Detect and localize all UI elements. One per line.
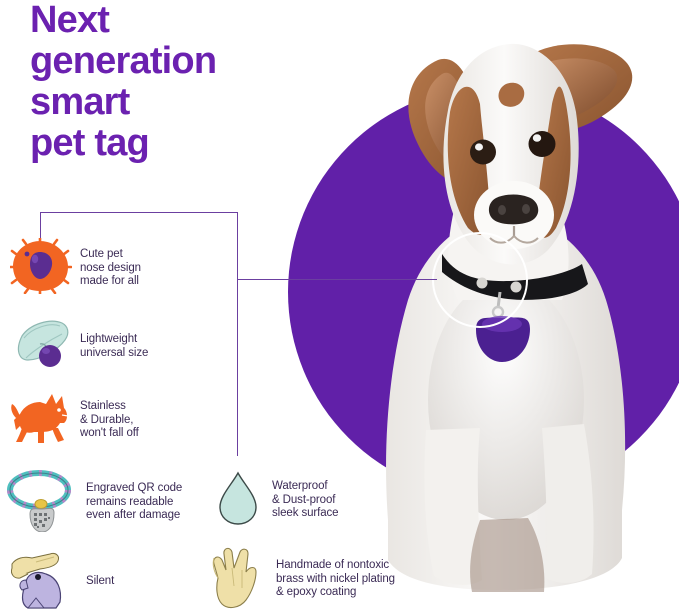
page-title: Next generation smart pet tag bbox=[30, 0, 310, 164]
feature-silent: Silent bbox=[6, 546, 114, 616]
feature-label: Lightweight universal size bbox=[80, 333, 148, 360]
water-drop-icon bbox=[214, 470, 262, 531]
feature-label: Stainless & Durable, won't fall off bbox=[80, 400, 139, 441]
connector-line-vertical bbox=[237, 212, 238, 456]
feature-waterproof: Waterproof & Dust-proof sleek surface bbox=[214, 470, 338, 531]
qr-tag-collar-icon bbox=[6, 468, 76, 537]
tag-highlight-ring bbox=[432, 232, 528, 328]
connector-line-top bbox=[40, 212, 238, 213]
feature-handmade: Handmade of nontoxic brass with nickel p… bbox=[210, 542, 395, 616]
hand-petting-dog-icon bbox=[6, 546, 76, 616]
connector-line-to-tag bbox=[237, 279, 437, 280]
collar-with-tag-icon bbox=[10, 316, 72, 377]
feature-durable: Stainless & Durable, won't fall off bbox=[10, 390, 139, 451]
feature-label: Cute pet nose design made for all bbox=[80, 248, 141, 289]
feature-label: Handmade of nontoxic brass with nickel p… bbox=[276, 559, 395, 600]
feature-label: Engraved QR code remains readable even a… bbox=[86, 482, 182, 523]
dog-nose-icon bbox=[10, 238, 72, 299]
feature-label: Waterproof & Dust-proof sleek surface bbox=[272, 480, 338, 521]
feature-label: Silent bbox=[86, 575, 114, 589]
feature-cute-nose: Cute pet nose design made for all bbox=[10, 238, 141, 299]
running-dog-icon bbox=[10, 390, 72, 451]
feature-qr-code: Engraved QR code remains readable even a… bbox=[6, 468, 182, 537]
pet-tag-infographic: Next generation smart pet tag Cute pet n… bbox=[0, 0, 679, 616]
open-hand-icon bbox=[210, 542, 266, 616]
feature-lightweight: Lightweight universal size bbox=[10, 316, 148, 377]
